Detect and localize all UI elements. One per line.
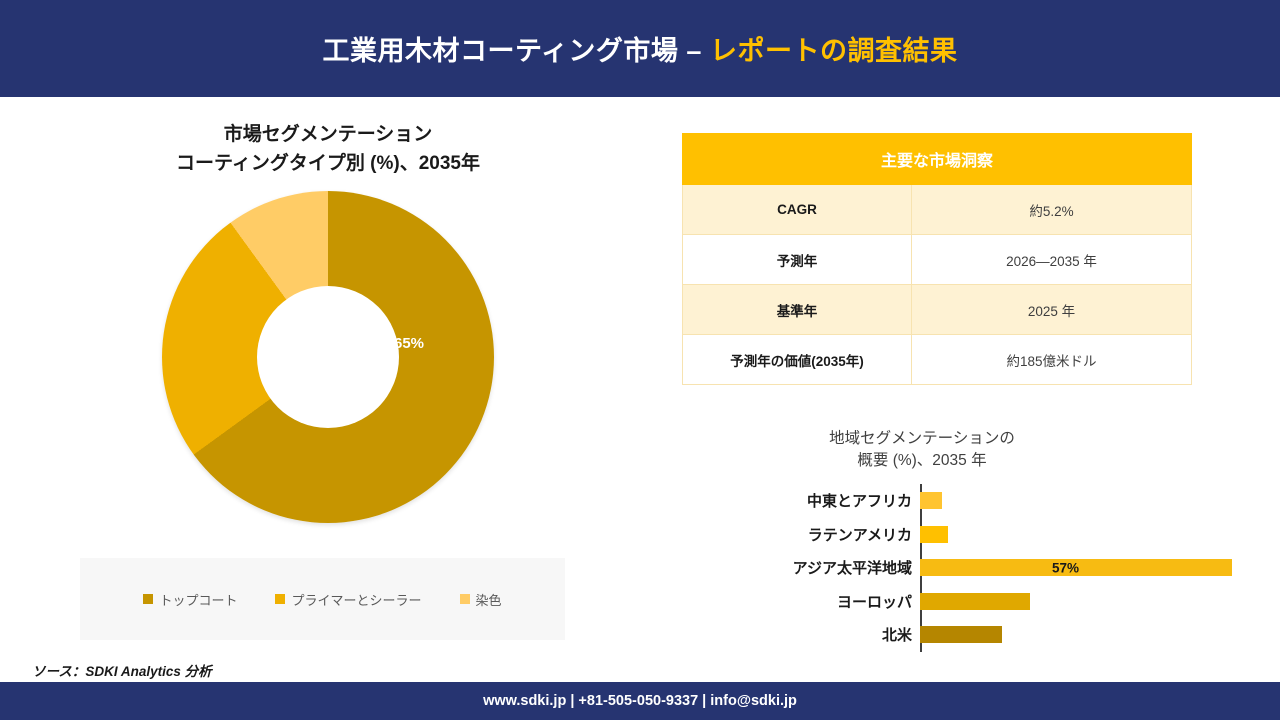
legend-label-topcoat: トップコート (159, 590, 237, 609)
table-cell-value-cagr: 約5.2% (912, 185, 1192, 235)
page-title: 工業用木材コーティング市場 – レポートの調査結果 (323, 29, 958, 68)
page-footer: www.sdki.jp | +81-505-050-9337 | info@sd… (0, 682, 1280, 720)
legend-swatch-icon (143, 594, 153, 604)
legend-item-topcoat[interactable]: トップコート (143, 590, 237, 609)
regional-bar-chart-panel: 地域セグメンテーションの 概要 (%)、2035 年 中東とアフリカ ラテンアメ… (682, 428, 1242, 678)
bar-category-label: 中東とアフリカ (682, 490, 920, 511)
table-cell-value-forecast-year: 2026—2035 年 (912, 235, 1192, 285)
legend-label-stain: 染色 (476, 590, 502, 609)
bar-track (920, 518, 1242, 552)
bar-track (920, 484, 1242, 518)
page-title-accent: レポートの調査結果 (710, 36, 958, 66)
bar-row-asia-pacific: アジア太平洋地域 57% (682, 551, 1242, 585)
bar-fill[interactable] (920, 526, 948, 543)
table-header-title: 主要な市場洞察 (683, 134, 1192, 185)
table-cell-value-forecast-value: 約185億米ドル (912, 335, 1192, 385)
bar-row-middle-east-africa: 中東とアフリカ (682, 484, 1242, 518)
table-row: CAGR 約5.2% (683, 185, 1192, 235)
bar-category-label: 北米 (682, 624, 920, 645)
bar-fill[interactable] (920, 492, 942, 509)
table-cell-key-forecast-year: 予測年 (683, 235, 912, 285)
bar-fill[interactable] (920, 626, 1002, 643)
table-cell-key-cagr: CAGR (683, 185, 912, 235)
bar-chart-title: 地域セグメンテーションの 概要 (%)、2035 年 (682, 428, 1242, 472)
table-cell-value-base-year: 2025 年 (912, 285, 1192, 335)
donut-slice-value-topcoat: 65% (394, 335, 424, 352)
bar-chart-title-line1: 地域セグメンテーションの (682, 428, 1162, 450)
bar-track (920, 585, 1242, 619)
bar-fill[interactable]: 57% (920, 559, 1232, 576)
legend-item-primer-sealer[interactable]: プライマーとシーラー (275, 590, 421, 609)
page-header: 工業用木材コーティング市場 – レポートの調査結果 (0, 0, 1280, 97)
bar-category-label: ラテンアメリカ (682, 524, 920, 545)
donut-chart-title-line2: コーティングタイプ別 (%)、2035年 (18, 149, 638, 178)
source-note: ソース：SDKI Analytics 分析 (32, 660, 212, 680)
bar-category-label: アジア太平洋地域 (682, 557, 920, 578)
page-title-main: 工業用木材コーティング市場 – (323, 36, 702, 66)
donut-chart: 65% (162, 191, 494, 523)
table-row: 予測年の価値(2035年) 約185億米ドル (683, 335, 1192, 385)
bar-row-latin-america: ラテンアメリカ (682, 518, 1242, 552)
key-market-insights-table: 主要な市場洞察 CAGR 約5.2% 予測年 2026—2035 年 基準年 2… (682, 133, 1192, 385)
footer-contact-text: www.sdki.jp | +81-505-050-9337 | info@sd… (483, 693, 797, 709)
bar-chart-title-line2: 概要 (%)、2035 年 (682, 450, 1162, 472)
bar-category-label: ヨーロッパ (682, 591, 920, 612)
bar-track (920, 618, 1242, 652)
bar-fill[interactable] (920, 593, 1030, 610)
legend-swatch-icon (460, 594, 470, 604)
legend-label-primer-sealer: プライマーとシーラー (291, 590, 421, 609)
table-cell-key-base-year: 基準年 (683, 285, 912, 335)
donut-legend: トップコート プライマーとシーラー 染色 (80, 558, 565, 640)
table-cell-key-forecast-value: 予測年の価値(2035年) (683, 335, 912, 385)
donut-chart-panel: 市場セグメンテーション コーティングタイプ別 (%)、2035年 65% トップ… (18, 108, 638, 648)
donut-chart-title-line1: 市場セグメンテーション (18, 120, 638, 149)
donut-hole (257, 286, 399, 428)
bar-row-north-america: 北米 (682, 618, 1242, 652)
table-row: 予測年 2026—2035 年 (683, 235, 1192, 285)
legend-item-stain[interactable]: 染色 (460, 590, 502, 609)
bar-value-label-asia-pacific: 57% (1052, 560, 1079, 575)
bar-track: 57% (920, 551, 1242, 585)
bar-row-europe: ヨーロッパ (682, 585, 1242, 619)
legend-swatch-icon (275, 594, 285, 604)
bar-chart-plot: 中東とアフリカ ラテンアメリカ アジア太平洋地域 57% ヨーロッパ (682, 484, 1242, 652)
table-header-row: 主要な市場洞察 (683, 134, 1192, 185)
table-row: 基準年 2025 年 (683, 285, 1192, 335)
donut-chart-title: 市場セグメンテーション コーティングタイプ別 (%)、2035年 (18, 120, 638, 179)
